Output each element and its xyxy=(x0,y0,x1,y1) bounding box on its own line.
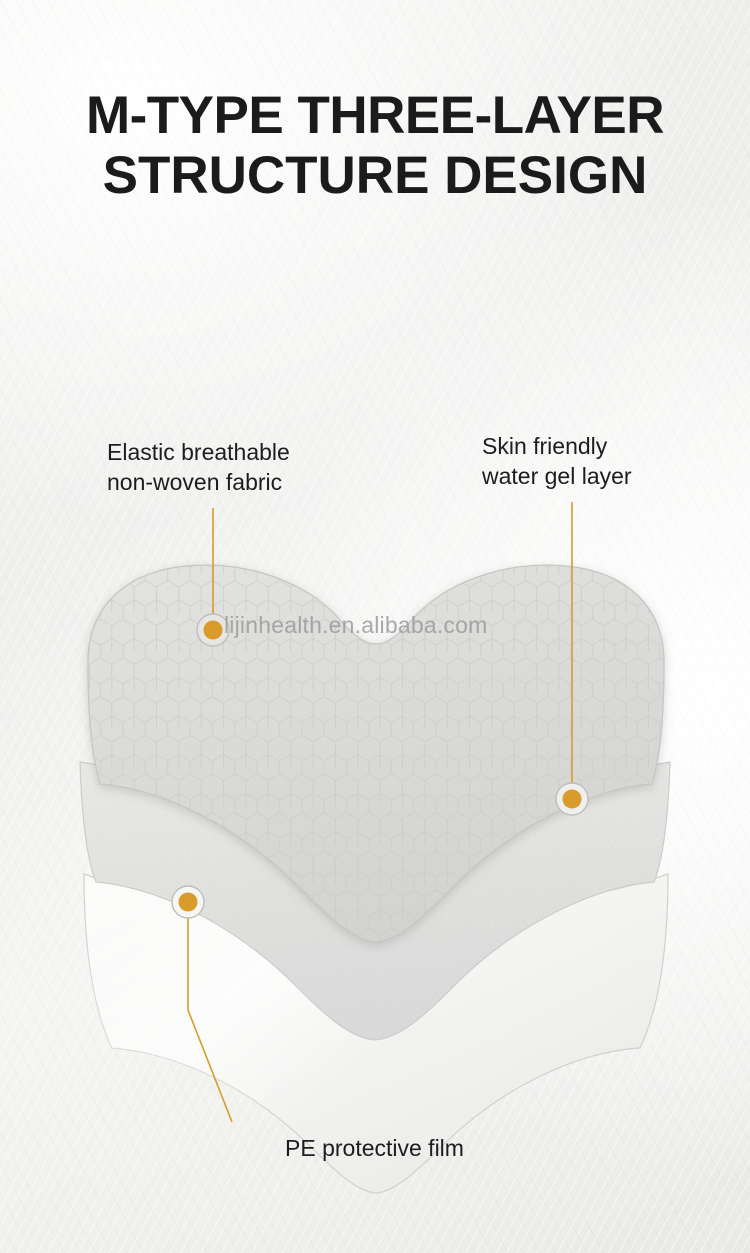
callout-label-water-gel: Skin friendly water gel layer xyxy=(482,431,632,492)
page-title-line-2: STRUCTURE DESIGN xyxy=(0,146,750,206)
callout-marker-water-gel xyxy=(556,783,588,815)
callout-marker-pe-film xyxy=(172,886,204,918)
callout-label-pe-film-line-1: PE protective film xyxy=(285,1133,464,1163)
page-title-line-1: M-TYPE THREE-LAYER xyxy=(0,86,750,146)
watermark: lijinhealth.en.alibaba.com xyxy=(224,612,487,639)
page-title: M-TYPE THREE-LAYER STRUCTURE DESIGN xyxy=(0,86,750,207)
callout-label-water-gel-line-2: water gel layer xyxy=(482,461,632,491)
callout-label-water-gel-line-1: Skin friendly xyxy=(482,431,632,461)
callout-label-non-woven-line-2: non-woven fabric xyxy=(107,467,290,497)
poster-canvas: M-TYPE THREE-LAYER STRUCTURE DESIGN xyxy=(0,0,750,1253)
callout-label-non-woven-line-1: Elastic breathable xyxy=(107,437,290,467)
callout-label-pe-film: PE protective film xyxy=(285,1133,464,1163)
callout-label-non-woven: Elastic breathable non-woven fabric xyxy=(107,437,290,498)
